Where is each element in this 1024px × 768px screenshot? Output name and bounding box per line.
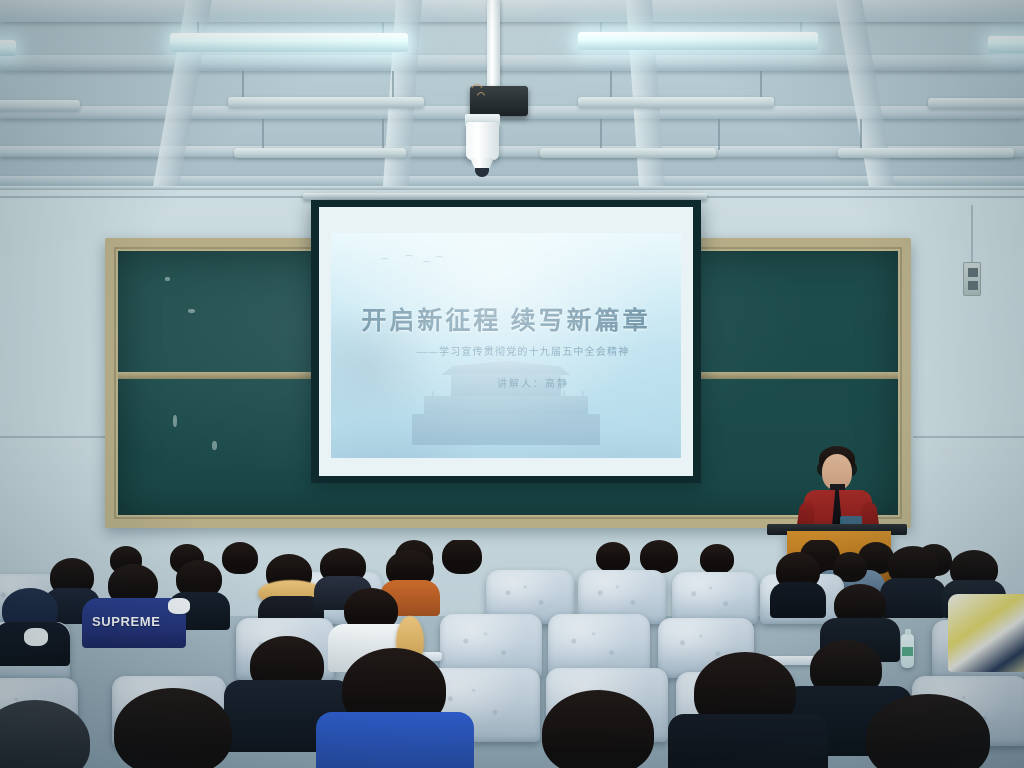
light-rod	[382, 119, 384, 150]
seat[interactable]	[672, 572, 758, 624]
fluorescent-tube	[0, 40, 16, 56]
wall-conduit	[0, 186, 1024, 190]
audience-member	[776, 552, 820, 608]
screen-mounting-rail	[303, 193, 707, 200]
wall-conduit	[0, 436, 108, 438]
fluorescent-tube	[988, 36, 1024, 53]
slide-subtitle: ——学习宣传贯彻党的十九届五中全会精神	[331, 343, 681, 358]
audience-member	[442, 540, 482, 574]
light-rod	[262, 119, 264, 150]
fluorescent-tube	[0, 100, 80, 111]
fluorescent-tube	[578, 97, 774, 108]
face-mask	[168, 598, 190, 614]
fluorescent-tube	[234, 148, 406, 158]
wall-switch-box[interactable]	[963, 262, 981, 296]
audience-member	[640, 540, 678, 573]
audience-member	[888, 546, 938, 606]
fluorescent-tube	[170, 33, 408, 52]
audience-member-foreground	[0, 700, 100, 768]
face-mask	[24, 628, 48, 646]
hoodie-brand-text: SUPREME	[92, 614, 161, 629]
light-rod	[600, 119, 602, 150]
light-rod	[860, 119, 862, 150]
audience-member-foreground	[108, 688, 244, 768]
light-rod	[718, 119, 720, 150]
slide-text-block: 开启新征程 续写新篇章 ——学习宣传贯彻党的十九届五中全会精神 讲解人：高静	[331, 233, 681, 458]
fluorescent-tube	[838, 148, 1014, 158]
slide-presenter: 讲解人：高静	[331, 375, 681, 390]
light-rod	[610, 71, 612, 99]
audience-member	[262, 554, 318, 616]
slide-title: 开启新征程 续写新篇章	[331, 301, 681, 337]
audience-member-supreme-hoodie: SUPREME	[86, 564, 182, 638]
audience-member	[700, 544, 734, 574]
ceiling-rib	[152, 0, 212, 190]
presentation-slide: 开启新征程 续写新篇章 ——学习宣传贯彻党的十九届五中全会精神 讲解人：高静	[331, 233, 681, 458]
water-bottle[interactable]	[901, 634, 914, 668]
presenter	[800, 440, 876, 535]
audience-member-foreground	[862, 694, 1002, 768]
audience-member-foreground	[684, 652, 810, 768]
fluorescent-tube	[578, 32, 818, 50]
audience-member	[596, 542, 630, 572]
projector-body	[466, 122, 499, 160]
ceiling-beam	[0, 0, 1024, 22]
light-rod	[760, 71, 762, 99]
light-rod	[392, 71, 394, 99]
ceiling-rib	[626, 0, 665, 190]
conduit-drop	[971, 205, 973, 263]
projection-screen: 开启新征程 续写新篇章 ——学习宣传贯彻党的十九届五中全会精神 讲解人：高静	[311, 200, 701, 483]
ceiling-rib	[383, 0, 422, 190]
audience-member	[222, 542, 258, 574]
audience-seating: SUPREME	[0, 540, 1024, 768]
wall-conduit	[913, 436, 1024, 438]
screen-surface: 开启新征程 续写新篇章 ——学习宣传贯彻党的十九届五中全会精神 讲解人：高静	[319, 207, 693, 476]
audience-member-foreground	[330, 648, 460, 768]
audience-member-foreground	[534, 690, 664, 768]
fluorescent-tube	[928, 98, 1024, 109]
audience-member-yellow-jacket	[948, 594, 1024, 672]
fluorescent-tube	[228, 97, 424, 108]
audience-member	[2, 588, 62, 660]
light-rod	[242, 71, 244, 99]
ceiling-rib	[836, 0, 896, 190]
fluorescent-tube	[540, 148, 716, 158]
lecture-hall-scene: 开启新征程 续写新篇章 ——学习宣传贯彻党的十九届五中全会精神 讲解人：高静	[0, 0, 1024, 768]
